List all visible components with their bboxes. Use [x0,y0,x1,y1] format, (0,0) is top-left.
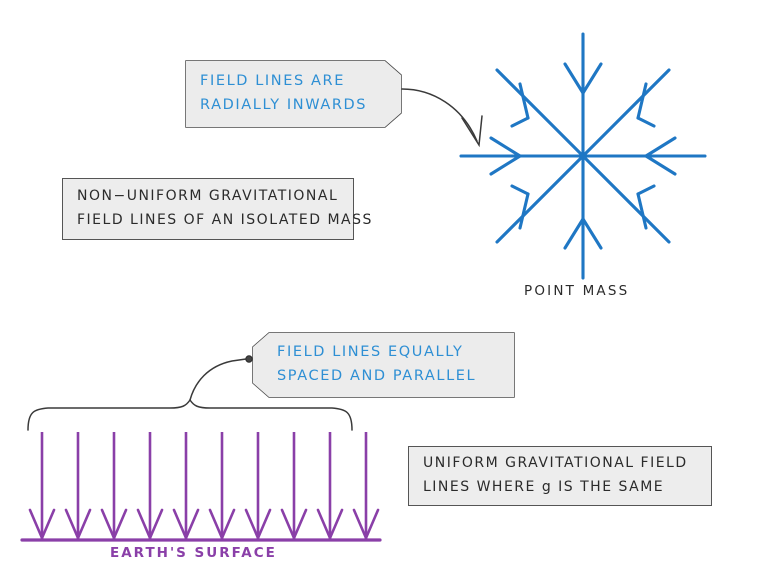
field-arrow-8 [282,432,306,538]
label-earths-surface: EARTH'S SURFACE [110,545,277,561]
tag-radial-line-1: FIELD LINES ARE [200,70,401,94]
field-arrowhead-nw [512,84,528,126]
caption-box-uniform-field: UNIFORM GRAVITATIONAL FIELD LINES WHERE … [408,446,712,506]
tag-anchor-dot-uniform [246,356,252,362]
caption-box-non-uniform-field: NON−UNIFORM GRAVITATIONAL FIELD LINES OF… [62,178,354,240]
label-point-mass: POINT MASS [524,283,629,299]
field-arrow-5 [174,432,198,538]
field-arrow-4 [138,432,162,538]
uniform-field-lines [30,432,378,538]
field-arrow-7 [246,432,270,538]
connector-radial-tag [402,89,482,145]
field-arrow-3 [102,432,126,538]
caption-uniform-line-1: UNIFORM GRAVITATIONAL FIELD [423,452,711,476]
field-arrowhead-se [638,186,654,228]
tag-uniform-line-2: SPACED AND PARALLEL [277,365,514,389]
tag-radial-text: FIELD LINES ARE RADIALLY INWARDS [200,70,401,118]
caption-non-uniform-line-2: FIELD LINES OF AN ISOLATED MASS [77,209,353,233]
tag-field-lines-equally-spaced[interactable]: FIELD LINES EQUALLY SPACED AND PARALLEL [253,333,514,397]
field-arrow-6 [210,432,234,538]
field-arrow-2 [66,432,90,538]
tag-field-lines-radially-inwards[interactable]: FIELD LINES ARE RADIALLY INWARDS [186,61,401,127]
field-arrowhead-sw [512,186,528,228]
caption-uniform-line-2: LINES WHERE g IS THE SAME [423,476,711,500]
tag-uniform-text: FIELD LINES EQUALLY SPACED AND PARALLEL [277,341,514,389]
tag-radial-line-2: RADIALLY INWARDS [200,94,401,118]
radial-field-lines [461,34,705,278]
field-arrow-10 [354,432,378,538]
field-arrowhead-ne [638,84,654,126]
caption-non-uniform-line-1: NON−UNIFORM GRAVITATIONAL [77,185,353,209]
field-arrow-9 [318,432,342,538]
field-arrow-1 [30,432,54,538]
tag-uniform-line-1: FIELD LINES EQUALLY [277,341,514,365]
